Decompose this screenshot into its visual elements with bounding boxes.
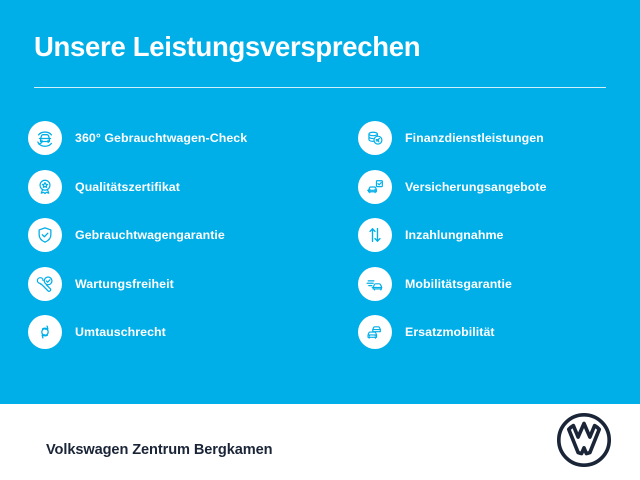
car-360-check-icon: [28, 121, 62, 155]
list-item-label: Versicherungsangebote: [405, 180, 547, 194]
benefits-right-column: Finanzdienstleistungen Versicheru: [330, 114, 640, 357]
wrench-check-icon: [28, 267, 62, 301]
car-document-check-icon: [358, 170, 392, 204]
list-item-label: Qualitätszertifikat: [75, 180, 180, 194]
car-speed-icon: [358, 267, 392, 301]
award-medal-icon: [28, 170, 62, 204]
benefits-left-column: 360° Gebrauchtwagen-Check Qualitätszerti…: [0, 114, 330, 357]
list-item: Versicherungsangebote: [358, 163, 640, 212]
list-item: 360° Gebrauchtwagen-Check: [28, 114, 330, 163]
list-item-label: Inzahlungnahme: [405, 228, 503, 242]
list-item-label: Umtauschrecht: [75, 325, 166, 339]
footer-bar: Volkswagen Zentrum Bergkamen: [0, 404, 640, 480]
volkswagen-logo: [556, 412, 612, 468]
list-item: Mobilitätsgarantie: [358, 260, 640, 309]
promo-poster: Unsere Leistungsversprechen: [0, 0, 640, 480]
list-item: Ersatzmobilität: [358, 308, 640, 357]
list-item: Gebrauchtwagengarantie: [28, 211, 330, 260]
dealer-name: Volkswagen Zentrum Bergkamen: [46, 442, 272, 458]
page-title: Unsere Leistungsversprechen: [34, 31, 420, 63]
up-down-arrows-icon: [358, 218, 392, 252]
list-item-label: Wartungsfreiheit: [75, 277, 174, 291]
benefits-panel: Unsere Leistungsversprechen: [0, 0, 640, 404]
shield-check-icon: [28, 218, 62, 252]
list-item-label: Gebrauchtwagengarantie: [75, 228, 225, 242]
list-item-label: Mobilitätsgarantie: [405, 277, 512, 291]
list-item-label: Finanzdienstleistungen: [405, 131, 544, 145]
list-item-label: Ersatzmobilität: [405, 325, 495, 339]
title-divider: [34, 87, 606, 88]
list-item-label: 360° Gebrauchtwagen-Check: [75, 131, 247, 145]
list-item: Qualitätszertifikat: [28, 163, 330, 212]
list-item: Umtauschrecht: [28, 308, 330, 357]
coins-euro-icon: [358, 121, 392, 155]
two-cars-icon: [358, 315, 392, 349]
exchange-arrows-icon: [28, 315, 62, 349]
list-item: Finanzdienstleistungen: [358, 114, 640, 163]
benefits-columns: 360° Gebrauchtwagen-Check Qualitätszerti…: [0, 114, 640, 357]
list-item: Inzahlungnahme: [358, 211, 640, 260]
list-item: Wartungsfreiheit: [28, 260, 330, 309]
